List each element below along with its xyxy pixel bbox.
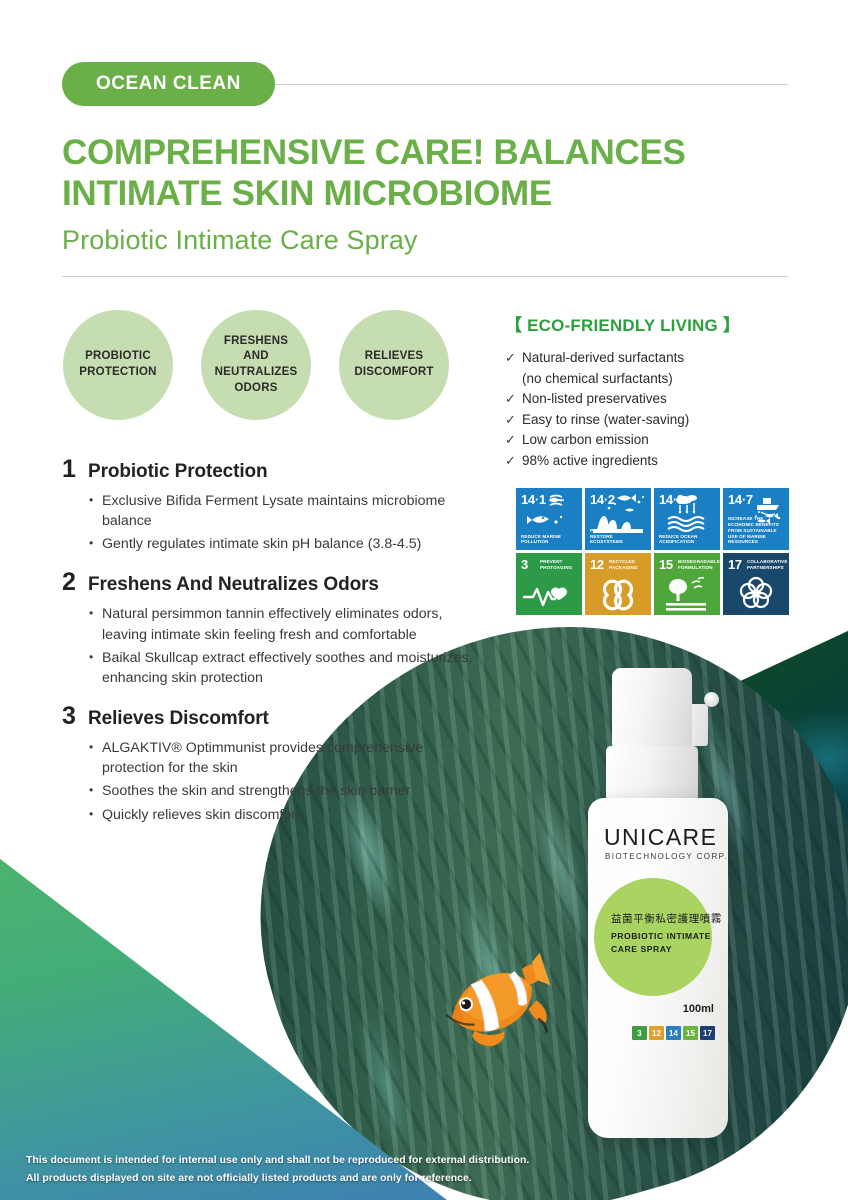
benefit-circle-line: PROBIOTIC xyxy=(79,349,156,365)
eco-list-item: ✓ Non-listed preservatives xyxy=(505,389,795,410)
eco-friendly-section: 【 ECO-FRIENDLY LIVING 】 ✓ Natural-derive… xyxy=(505,311,795,471)
benefit-circle-group: PROBIOTIC PROTECTION FRESHENS AND NEUTRA… xyxy=(63,310,449,420)
sdg-tile-label: PROTECT AND RESTORE ECOSYSTEMS xyxy=(590,528,647,545)
feature-title: Relieves Discomfort xyxy=(88,708,269,730)
benefit-circle-line: AND xyxy=(215,349,298,365)
sdg-tile-number: 3 xyxy=(521,557,528,572)
benefit-circle: PROBIOTIC PROTECTION xyxy=(63,310,173,420)
bullet-icon: • xyxy=(89,534,102,554)
brand-name: UNICARE xyxy=(604,824,717,851)
sdg-tile-number: 14·3 xyxy=(659,492,684,507)
sdg-tile-number: 17 xyxy=(728,557,742,572)
sdg-tile-label: RECYCLED PACKAGING xyxy=(609,559,648,570)
sdg-tile-label: INCREASE THE ECONOMIC BENEFITS FROM SUST… xyxy=(728,516,785,545)
sdg-badge: 14 xyxy=(666,1026,681,1040)
page-subtitle: Probiotic Intimate Care Spray xyxy=(62,225,788,256)
product-name-en: PROBIOTIC INTIMATE CARE SPRAY xyxy=(611,930,711,956)
feature-bullet: • Exclusive Bifida Ferment Lysate mainta… xyxy=(89,491,482,531)
feature-bullet: • Gently regulates intimate skin pH bala… xyxy=(89,534,482,554)
check-icon: ✓ xyxy=(505,410,522,430)
sdg-tile-14-1: 14·1 REDUCE MARINE POLLUTION xyxy=(516,488,582,550)
header-divider-rule xyxy=(62,276,788,277)
disclaimer-line-1: This document is intended for internal u… xyxy=(26,1152,529,1170)
feature-number: 3 xyxy=(62,702,88,731)
feature-bullet: • Baikal Skullcap extract effectively so… xyxy=(89,648,482,688)
eco-item-label: Easy to rinse (water-saving) xyxy=(522,410,689,431)
bullet-icon: • xyxy=(89,648,102,688)
sdg-tile-label: COLLABORATIVE PARTNERSHIPS xyxy=(747,559,786,570)
benefit-circle-line: PROTECTION xyxy=(79,365,156,381)
sdg-tile-label: REDUCE OCEAN ACIDIFICATION xyxy=(659,534,716,545)
feature-bullet-text: Baikal Skullcap extract effectively soot… xyxy=(102,648,482,688)
feature-number: 1 xyxy=(62,455,88,484)
feature-block-1: 1 Probiotic Protection • Exclusive Bifid… xyxy=(62,455,482,554)
brand-subtitle: BIOTECHNOLOGY CORP. xyxy=(605,852,728,861)
eco-item-list: ✓ Natural-derived surfactants (no chemic… xyxy=(505,348,795,471)
sdg-tile-3: 3 PREVENT PHOTOAGING xyxy=(516,553,582,615)
benefit-circle-line: RELIEVES xyxy=(354,349,433,365)
benefit-circle: RELIEVES DISCOMFORT xyxy=(339,310,449,420)
ocean-clean-badge: OCEAN CLEAN xyxy=(62,62,275,106)
sdg-tile-17: 17 COLLABORATIVE PARTNERSHIPS xyxy=(723,553,789,615)
sdg-badge: 12 xyxy=(649,1026,664,1040)
sdg-tile-number: 14·1 xyxy=(521,492,546,507)
feature-bullet-text: Gently regulates intimate skin pH balanc… xyxy=(102,534,482,554)
benefit-circle: FRESHENS AND NEUTRALIZES ODORS xyxy=(201,310,311,420)
eco-item-label: Low carbon emission xyxy=(522,430,649,451)
feature-bullets: • ALGAKTIV® Optimmunist provides compreh… xyxy=(62,738,482,825)
sdg-goal-grid: 14·1 REDUCE MARINE POLLUTION 14·2 PROTEC… xyxy=(516,488,789,615)
sdg-badge-row: 3 12 14 15 17 xyxy=(632,1026,715,1040)
badge-row: OCEAN CLEAN xyxy=(62,62,788,106)
bullet-icon: • xyxy=(89,781,102,801)
sdg-tile-14-3: 14·3 REDUCE OCEAN ACIDIFICATION xyxy=(654,488,720,550)
sdg-tile-number: 14·2 xyxy=(590,492,615,507)
sdg-badge: 17 xyxy=(700,1026,715,1040)
feature-heading: 3 Relieves Discomfort xyxy=(62,702,482,731)
page-title: COMPREHENSIVE CARE! BALANCES INTIMATE SK… xyxy=(62,132,788,215)
brochure-page: OCEAN CLEAN COMPREHENSIVE CARE! BALANCES… xyxy=(0,0,848,1200)
sdg-tile-15: 15 BIODEGRADABLE FORMULATION xyxy=(654,553,720,615)
product-name-en-line1: PROBIOTIC INTIMATE xyxy=(611,930,711,943)
sdg-tile-number: 12 xyxy=(590,557,604,572)
bullet-icon: • xyxy=(89,604,102,644)
product-name-en-line2: CARE SPRAY xyxy=(611,943,711,956)
feature-bullet-text: Soothes the skin and strengthens the ski… xyxy=(102,781,482,801)
feature-bullet: • Quickly relieves skin discomfort. xyxy=(89,805,482,825)
eco-item-label: Non-listed preservatives xyxy=(522,389,667,410)
headline-line-2: INTIMATE SKIN MICROBIOME xyxy=(62,173,788,214)
bullet-icon: • xyxy=(89,738,102,778)
feature-bullets: • Exclusive Bifida Ferment Lysate mainta… xyxy=(62,491,482,554)
feature-bullet-text: Exclusive Bifida Ferment Lysate maintain… xyxy=(102,491,482,531)
sdg-tile-12: 12 RECYCLED PACKAGING xyxy=(585,553,651,615)
sdg-badge: 15 xyxy=(683,1026,698,1040)
feature-list: 1 Probiotic Protection • Exclusive Bifid… xyxy=(62,455,482,839)
feature-bullets: • Natural persimmon tannin effectively e… xyxy=(62,604,482,688)
eco-list-item: ✓ 98% active ingredients xyxy=(505,451,795,472)
eco-item-label: Natural-derived surfactants xyxy=(522,348,684,369)
feature-bullet: • ALGAKTIV® Optimmunist provides compreh… xyxy=(89,738,482,778)
feature-heading: 2 Freshens And Neutralizes Odors xyxy=(62,568,482,597)
product-volume: 100ml xyxy=(683,1003,714,1015)
sdg-tile-14-2: 14·2 PROTECT AND RESTORE ECOSYSTEMS xyxy=(585,488,651,550)
bullet-icon: • xyxy=(89,805,102,825)
eco-list-item: ✓ Natural-derived surfactants xyxy=(505,348,795,369)
feature-block-2: 2 Freshens And Neutralizes Odors • Natur… xyxy=(62,568,482,688)
product-name-cn: 益菌平衡私密護理噴霧 xyxy=(611,911,722,926)
headline-line-1: COMPREHENSIVE CARE! BALANCES xyxy=(62,132,788,173)
sdg-tile-number: 14·7 xyxy=(728,492,753,507)
feature-number: 2 xyxy=(62,568,88,597)
feature-title: Probiotic Protection xyxy=(88,461,268,483)
feature-bullet-text: Natural persimmon tannin effectively eli… xyxy=(102,604,482,644)
spray-button-dot xyxy=(704,692,719,707)
sdg-tile-number: 15 xyxy=(659,557,673,572)
product-bottle: UNICARE BIOTECHNOLOGY CORP. 益菌平衡私密護理噴霧 P… xyxy=(570,668,770,1148)
feature-bullet: • Natural persimmon tannin effectively e… xyxy=(89,604,482,644)
feature-title: Freshens And Neutralizes Odors xyxy=(88,574,379,596)
disclaimer-text: This document is intended for internal u… xyxy=(26,1152,529,1188)
check-icon: ✓ xyxy=(505,451,522,471)
sdg-tile-14-7: 14·7 INCREASE THE ECONOMIC BENEFITS FROM… xyxy=(723,488,789,550)
eco-list-item: ✓ Easy to rinse (water-saving) xyxy=(505,410,795,431)
clownfish-illustration xyxy=(430,940,555,1060)
sdg-badge: 3 xyxy=(632,1026,647,1040)
bullet-icon: • xyxy=(89,491,102,531)
spray-cap xyxy=(612,668,692,748)
benefit-circle-line: DISCOMFORT xyxy=(354,365,433,381)
benefit-circle-line: FRESHENS xyxy=(215,334,298,350)
check-icon: ✓ xyxy=(505,348,522,368)
benefit-circle-line: ODORS xyxy=(215,381,298,397)
disclaimer-line-2: All products displayed on site are not o… xyxy=(26,1170,529,1188)
feature-bullet: • Soothes the skin and strengthens the s… xyxy=(89,781,482,801)
header: OCEAN CLEAN COMPREHENSIVE CARE! BALANCES… xyxy=(62,62,788,277)
badge-divider-rule xyxy=(275,84,788,85)
bottle-body: UNICARE BIOTECHNOLOGY CORP. 益菌平衡私密護理噴霧 P… xyxy=(588,798,728,1138)
sdg-tile-label: BIODEGRADABLE FORMULATION xyxy=(678,559,717,570)
sdg-tile-label: PREVENT PHOTOAGING xyxy=(540,559,579,570)
feature-bullet-text: ALGAKTIV® Optimmunist provides comprehen… xyxy=(102,738,482,778)
check-icon: ✓ xyxy=(505,430,522,450)
spray-collar xyxy=(606,746,698,802)
feature-heading: 1 Probiotic Protection xyxy=(62,455,482,484)
eco-list-item: ✓ Low carbon emission xyxy=(505,430,795,451)
eco-section-title: 【 ECO-FRIENDLY LIVING 】 xyxy=(505,311,795,336)
eco-item-label: 98% active ingredients xyxy=(522,451,658,472)
sdg-tile-label: REDUCE MARINE POLLUTION xyxy=(521,534,578,545)
feature-bullet-text: Quickly relieves skin discomfort. xyxy=(102,805,482,825)
eco-item-sublabel: (no chemical surfactants) xyxy=(522,369,795,390)
benefit-circle-line: NEUTRALIZES xyxy=(215,365,298,381)
check-icon: ✓ xyxy=(505,389,522,409)
feature-block-3: 3 Relieves Discomfort • ALGAKTIV® Optimm… xyxy=(62,702,482,825)
